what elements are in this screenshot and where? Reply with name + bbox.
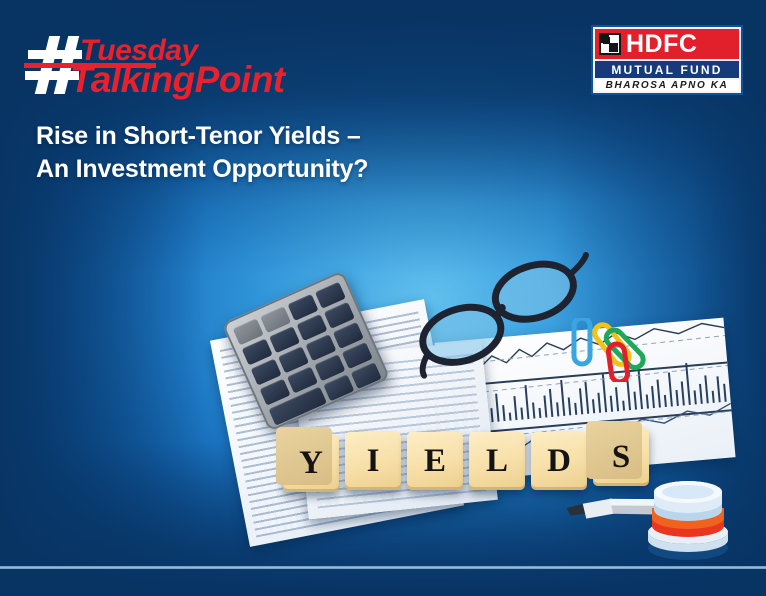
headline-line-2: An Investment Opportunity?	[36, 153, 556, 186]
hdfc-mutual-fund-logo: HDFC MUTUAL FUND BHAROSA APNO KA	[591, 25, 743, 95]
hdfc-tagline: BHAROSA APNO KA	[606, 81, 729, 91]
hdfc-brand-name: HDFC	[626, 32, 697, 57]
hashtag-red-strike	[24, 63, 156, 68]
poster-canvas: Y I E L D S	[0, 0, 766, 596]
hdfc-square-mark-icon	[599, 33, 621, 55]
bottom-divider	[0, 566, 766, 569]
hdfc-brand-band: HDFC	[595, 29, 739, 59]
hdfc-subtitle-band: MUTUAL FUND	[595, 61, 739, 78]
hdfc-subtitle: MUTUAL FUND	[611, 64, 722, 76]
tuesday-talking-point-logo: # Tuesday TalkingPoint	[26, 34, 326, 100]
hdfc-tagline-band: BHAROSA APNO KA	[595, 80, 739, 91]
page-title: Rise in Short-Tenor Yields – An Investme…	[36, 120, 556, 186]
headline-line-1: Rise in Short-Tenor Yields –	[36, 122, 361, 150]
